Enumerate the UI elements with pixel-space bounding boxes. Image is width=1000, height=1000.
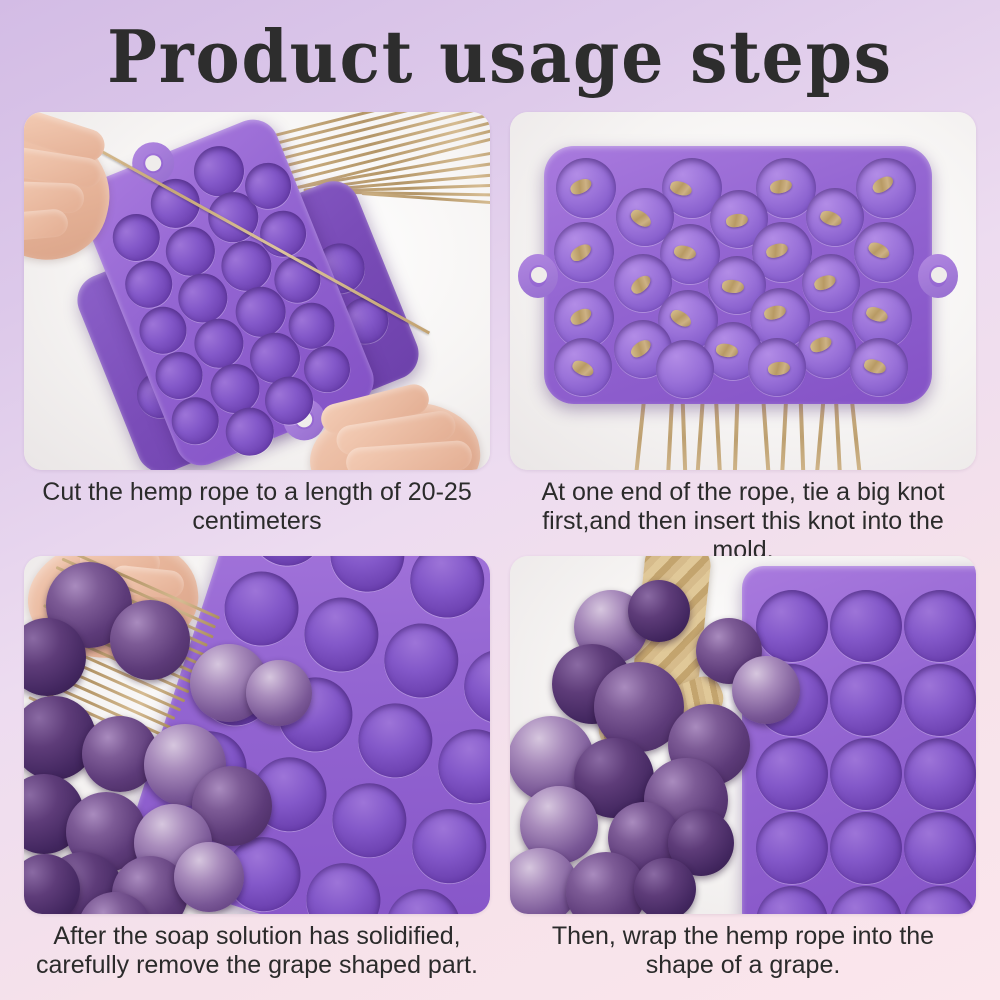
grape-soap-ball — [110, 600, 190, 680]
steps-grid: Cut the hemp rope to a length of 20-25 c… — [24, 112, 976, 992]
mold-handle-left — [518, 254, 558, 298]
mold-handle-right — [918, 254, 958, 298]
page-title: Product usage steps — [40, 14, 960, 99]
step-1-caption: Cut the hemp rope to a length of 20-25 c… — [24, 470, 490, 556]
step-4-caption: Then, wrap the hemp rope into the shape … — [510, 914, 976, 992]
step-4-photo — [510, 556, 976, 914]
grape-soap-ball — [174, 842, 244, 912]
grape-soap-ball — [732, 656, 800, 724]
grape-soap-ball — [246, 660, 312, 726]
step-3-caption: After the soap solution has solidified, … — [24, 914, 490, 992]
step-1-photo — [24, 112, 490, 470]
step-2-photo — [510, 112, 976, 470]
infographic-page: Product usage steps — [0, 0, 1000, 1000]
silicone-mold-top-view — [544, 146, 932, 404]
step-3-photo — [24, 556, 490, 914]
grape-soap-ball — [628, 580, 690, 642]
silicone-mold-side — [742, 566, 976, 914]
grape-soap-ball — [634, 858, 696, 914]
step-2-caption: At one end of the rope, tie a big knot f… — [510, 470, 976, 556]
